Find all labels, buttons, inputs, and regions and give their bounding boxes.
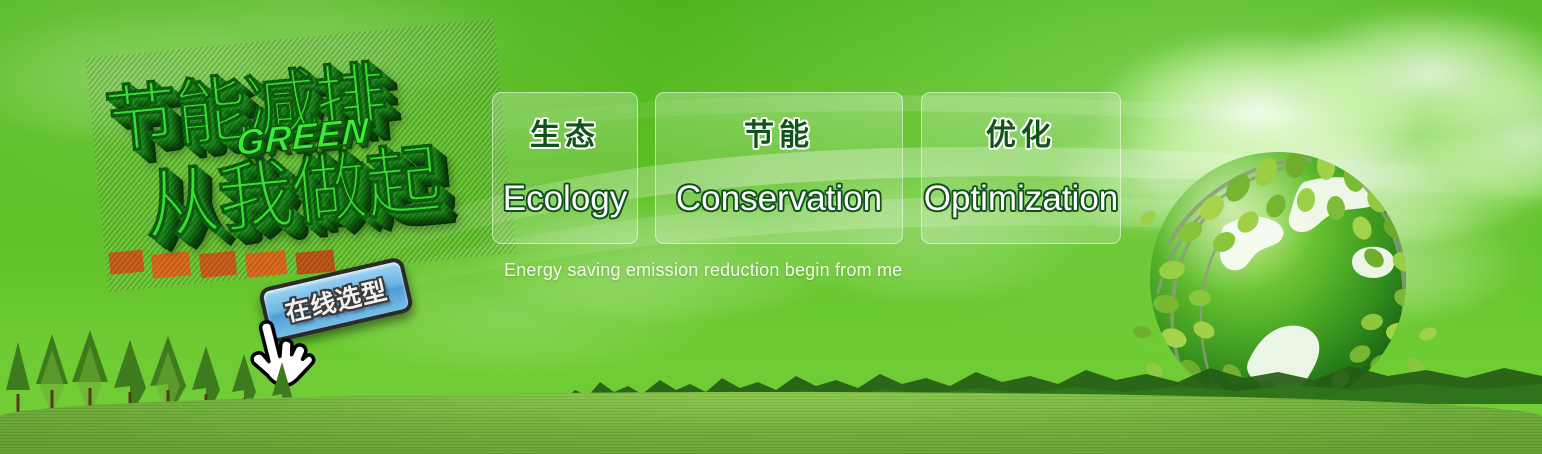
feature-card-optimization[interactable]: 优化 Optimization [921,92,1121,244]
feature-card-title-en: Ecology [503,181,628,216]
hero-3d-headline: 节能减排 从我做起 GREEN [86,19,517,292]
pine-trees-icon [0,328,420,420]
feature-cards: 生态 Ecology 节能 Conservation 优化 Optimizati… [492,92,1121,244]
feature-card-title-en: Conservation [676,181,882,216]
feature-card-conservation[interactable]: 节能 Conservation [655,92,903,244]
online-selection-label: 在线选型 [281,271,390,329]
banner-tagline: Energy saving emission reduction begin f… [504,260,902,281]
green-energy-banner: 节能减排 从我做起 GREEN 在线选型 生态 Ecology 节能 Conse… [0,0,1542,454]
feature-card-title-cn: 生态 [530,121,600,151]
feature-card-title-en: Optimization [924,181,1119,216]
feature-card-ecology[interactable]: 生态 Ecology [492,92,638,244]
feature-card-title-cn: 节能 [744,121,814,151]
feature-card-title-cn: 优化 [986,121,1056,151]
